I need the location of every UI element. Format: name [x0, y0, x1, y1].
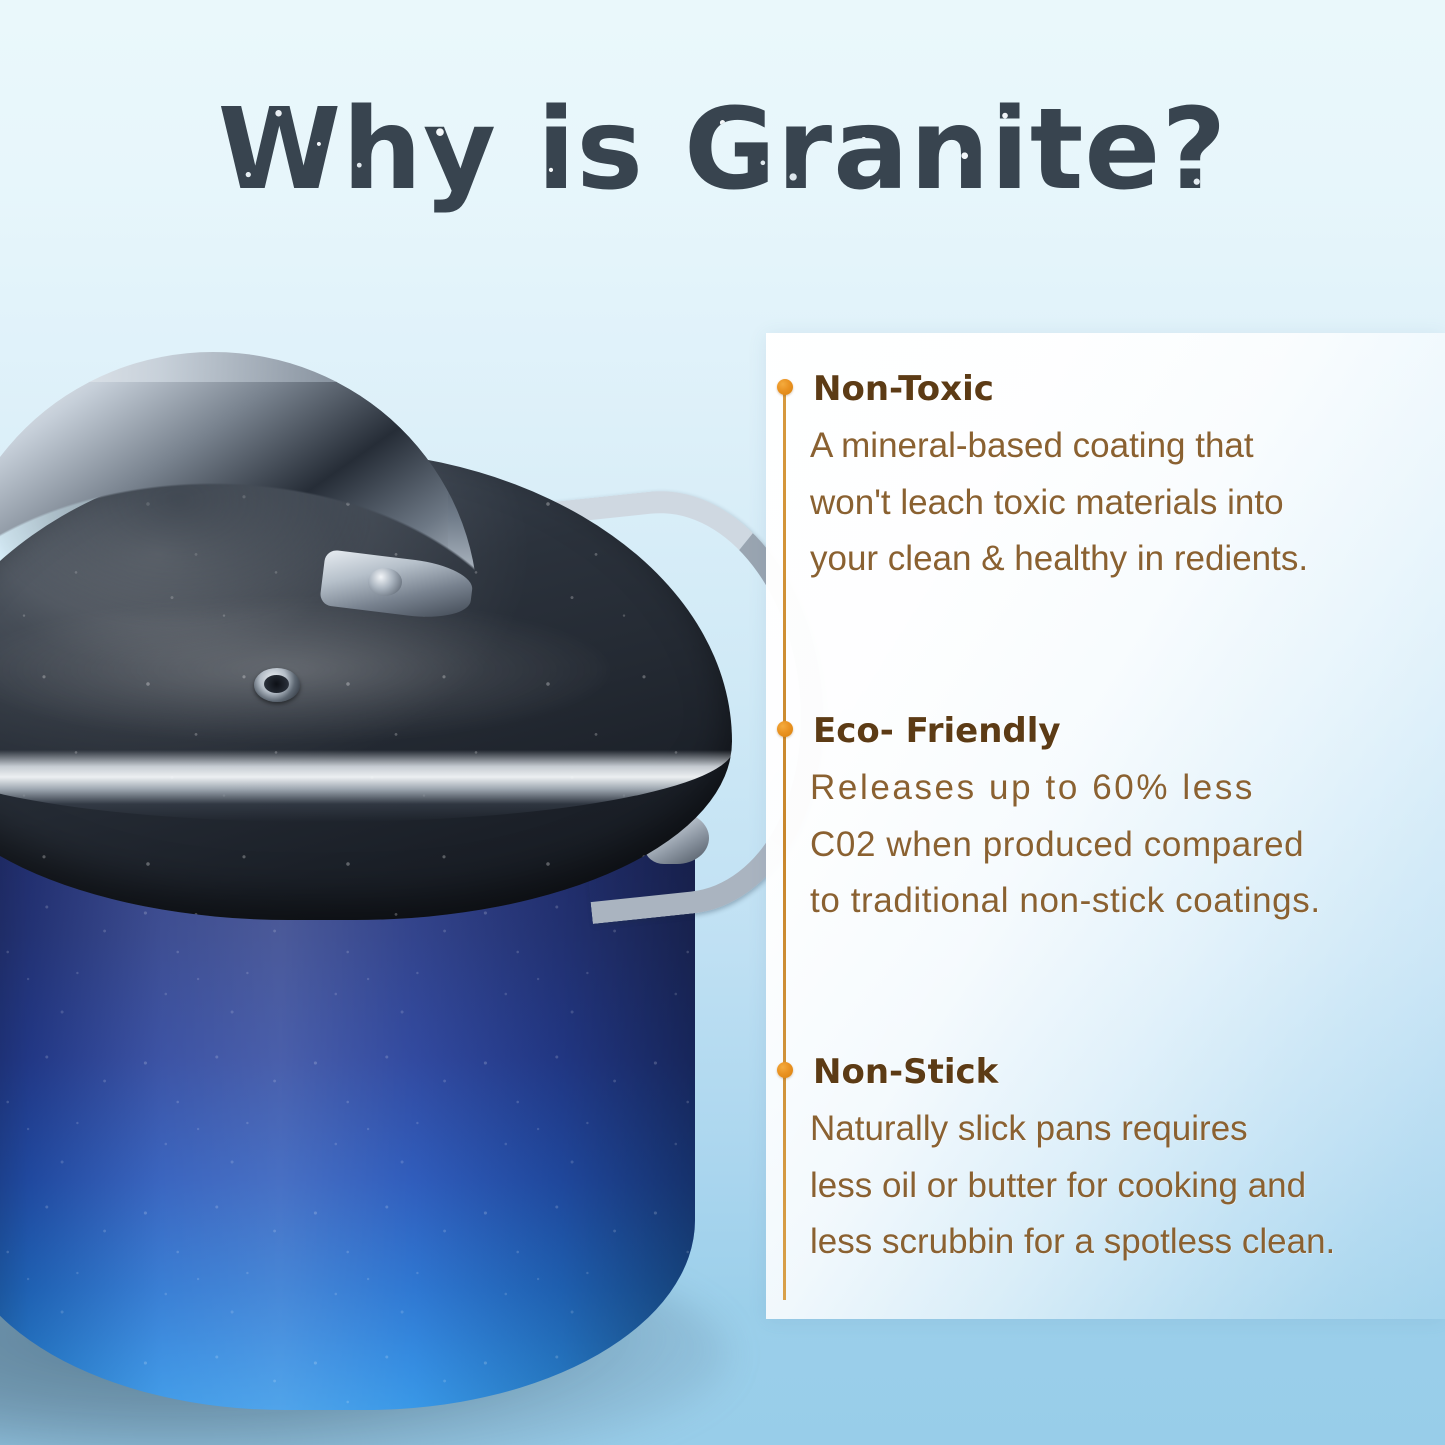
feature-description-line: Naturally slick pans requires: [810, 1101, 1430, 1158]
product-image: [0, 300, 800, 1420]
feature-description-line: to traditional non-stick coatings.: [810, 873, 1430, 930]
features-panel: Non-Toxic A mineral-based coating that w…: [766, 333, 1445, 1319]
feature-description-line: less oil or butter for cooking and: [810, 1158, 1430, 1215]
page-title-text: Why is Granite?: [218, 85, 1228, 215]
feature-description-line: A mineral-based coating that: [810, 418, 1430, 475]
feature-description-line: won't leach toxic materials into: [810, 475, 1430, 532]
poster-title-container: Why is Granite? Why is Granite?: [0, 92, 1445, 210]
feature-description-line: your clean & healthy in redients.: [810, 531, 1430, 588]
feature-description: Naturally slick pans requires less oil o…: [810, 1101, 1430, 1271]
feature-description-line: less scrubbin for a spotless clean.: [810, 1214, 1430, 1271]
timeline-dot-icon: [777, 1062, 793, 1078]
feature-heading: Non-Stick: [813, 1055, 998, 1089]
timeline-dot-icon: [777, 721, 793, 737]
feature-description-line: C02 when produced compared: [810, 817, 1430, 874]
product-infographic-poster: Why is Granite? Why is Granite? Non-Toxi…: [0, 0, 1445, 1445]
feature-description: A mineral-based coating that won't leach…: [810, 418, 1430, 588]
feature-heading: Non-Toxic: [813, 372, 994, 406]
lid-handle: [0, 352, 478, 702]
timeline-dot-icon: [777, 379, 793, 395]
timeline-rail: [783, 380, 786, 1300]
feature-heading: Eco- Friendly: [813, 714, 1061, 748]
feature-description-line: Releases up to 60% less: [810, 760, 1430, 817]
page-title: Why is Granite? Why is Granite?: [218, 92, 1228, 210]
lid-handle-rivet: [368, 568, 402, 596]
feature-description: Releases up to 60% less C02 when produce…: [810, 760, 1430, 930]
